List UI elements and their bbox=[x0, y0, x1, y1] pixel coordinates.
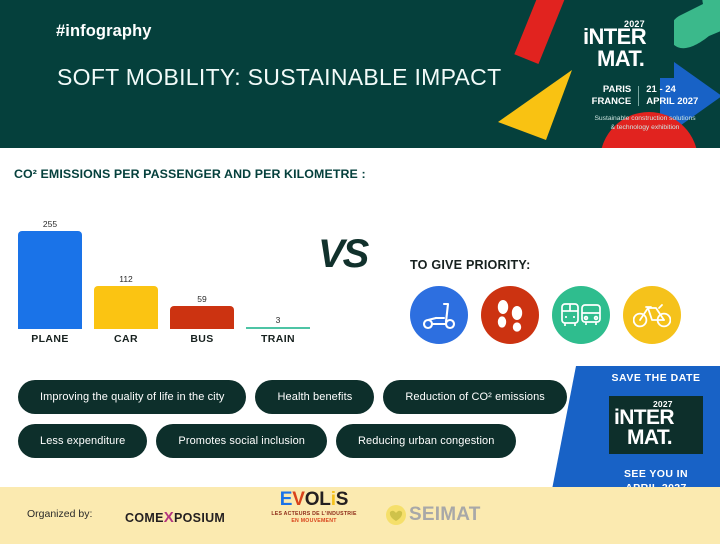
chart-bar-value: 255 bbox=[43, 219, 57, 229]
hashtag-label: #infography bbox=[56, 22, 152, 41]
priority-title: TO GIVE PRIORITY: bbox=[410, 258, 531, 272]
page-title: SOFT MOBILITY: SUSTAINABLE IMPACT bbox=[57, 64, 501, 91]
chart-x-axis-labels: PLANECARBUSTRAIN bbox=[18, 333, 318, 355]
benefit-pill[interactable]: Less expenditure bbox=[18, 424, 147, 458]
footprints-icon bbox=[481, 286, 539, 344]
chart-bar bbox=[246, 327, 310, 329]
chart-category-label: BUS bbox=[170, 333, 234, 355]
comexposium-text-a: COME bbox=[125, 511, 164, 525]
seimat-logo: SEIMAT bbox=[385, 504, 481, 526]
chart-bar-value: 3 bbox=[276, 315, 281, 325]
event-date-month: APRIL 2027 bbox=[646, 96, 698, 108]
logo-line-1: iNTER bbox=[583, 26, 646, 48]
see-you-line-1: SEE YOU IN bbox=[592, 467, 720, 481]
seimat-wordmark: SEIMAT bbox=[409, 504, 481, 526]
benefit-pill[interactable]: Reduction of CO² emissions bbox=[383, 380, 567, 414]
intermat-logo: 2027 iNTER MAT. bbox=[578, 18, 674, 78]
event-tagline-line2: & technology exhibition bbox=[570, 123, 720, 132]
chart-category-label: PLANE bbox=[18, 333, 82, 355]
red-bar-decoration bbox=[514, 0, 567, 64]
seimat-mark-icon bbox=[385, 504, 407, 526]
event-info-block: PARIS FRANCE 21 - 24 APRIL 2027 Sustaina… bbox=[570, 84, 720, 132]
evolis-wordmark: EVOLiS bbox=[258, 490, 370, 509]
event-date: 21 - 24 APRIL 2027 bbox=[646, 84, 698, 108]
chart-bar-group: 112 bbox=[94, 217, 158, 329]
event-tagline: Sustainable construction solutions & tec… bbox=[570, 114, 720, 132]
benefit-pill[interactable]: Promotes social inclusion bbox=[156, 424, 327, 458]
bicycle-icon bbox=[623, 286, 681, 344]
evolis-tagline-2: EN MOUVEMENT bbox=[258, 518, 370, 524]
benefit-pill[interactable]: Reducing urban congestion bbox=[336, 424, 516, 458]
comexposium-logo: COMEXPOSIUM bbox=[125, 509, 225, 526]
chart-bars: 255112593 bbox=[18, 217, 318, 329]
evolis-logo: EVOLiS LES ACTEURS DE L'INDUSTRIE EN MOU… bbox=[258, 490, 370, 524]
save-the-date-content: SAVE THE DATE 2027 iNTER MAT. SEE YOU IN… bbox=[592, 372, 720, 495]
comexposium-text-x: X bbox=[164, 509, 174, 526]
comexposium-text-b: POSIUM bbox=[174, 511, 225, 525]
infographic-poster: #infography SOFT MOBILITY: SUSTAINABLE I… bbox=[0, 0, 720, 544]
chart-category-label: CAR bbox=[94, 333, 158, 355]
benefits-row-1: Improving the quality of life in the cit… bbox=[18, 380, 567, 414]
evolis-tagline-1: LES ACTEURS DE L'INDUSTRIE bbox=[258, 511, 370, 517]
benefits-row-2: Less expenditurePromotes social inclusio… bbox=[18, 424, 516, 458]
chart-bar bbox=[18, 231, 82, 329]
train-bus-icon bbox=[552, 286, 610, 344]
yellow-triangle-decoration bbox=[498, 70, 574, 142]
chart-bar-group: 255 bbox=[18, 217, 82, 329]
event-city: PARIS bbox=[592, 84, 632, 96]
priority-icons bbox=[410, 286, 681, 344]
event-location: PARIS FRANCE bbox=[592, 84, 632, 108]
scooter-icon bbox=[410, 286, 468, 344]
logo-line-1-secondary: iNTER bbox=[614, 407, 674, 428]
organized-by-label: Organized by: bbox=[27, 508, 92, 520]
event-date-days: 21 - 24 bbox=[646, 84, 698, 96]
co2-bar-chart: 255112593 PLANECARBUSTRAIN bbox=[18, 205, 318, 355]
chart-bar bbox=[170, 306, 234, 329]
logo-line-2-secondary: MAT. bbox=[627, 427, 672, 448]
save-the-date-title: SAVE THE DATE bbox=[592, 372, 720, 384]
chart-bar-group: 3 bbox=[246, 217, 310, 329]
chart-bar-group: 59 bbox=[170, 217, 234, 329]
event-tagline-line1: Sustainable construction solutions bbox=[570, 114, 720, 123]
divider bbox=[638, 86, 639, 106]
benefit-pill[interactable]: Health benefits bbox=[255, 380, 374, 414]
event-country: FRANCE bbox=[592, 96, 632, 108]
chart-bar-value: 59 bbox=[197, 294, 206, 304]
header-banner: #infography SOFT MOBILITY: SUSTAINABLE I… bbox=[0, 0, 720, 148]
benefit-pill[interactable]: Improving the quality of life in the cit… bbox=[18, 380, 246, 414]
chart-section-title: CO² EMISSIONS PER PASSENGER AND PER KILO… bbox=[14, 167, 366, 181]
chart-bar bbox=[94, 286, 158, 329]
intermat-logo-secondary: 2027 iNTER MAT. bbox=[609, 396, 703, 454]
chart-bar-value: 112 bbox=[119, 274, 133, 284]
chart-category-label: TRAIN bbox=[246, 333, 310, 355]
versus-label: VS bbox=[318, 234, 367, 274]
logo-line-2: MAT. bbox=[597, 48, 644, 70]
